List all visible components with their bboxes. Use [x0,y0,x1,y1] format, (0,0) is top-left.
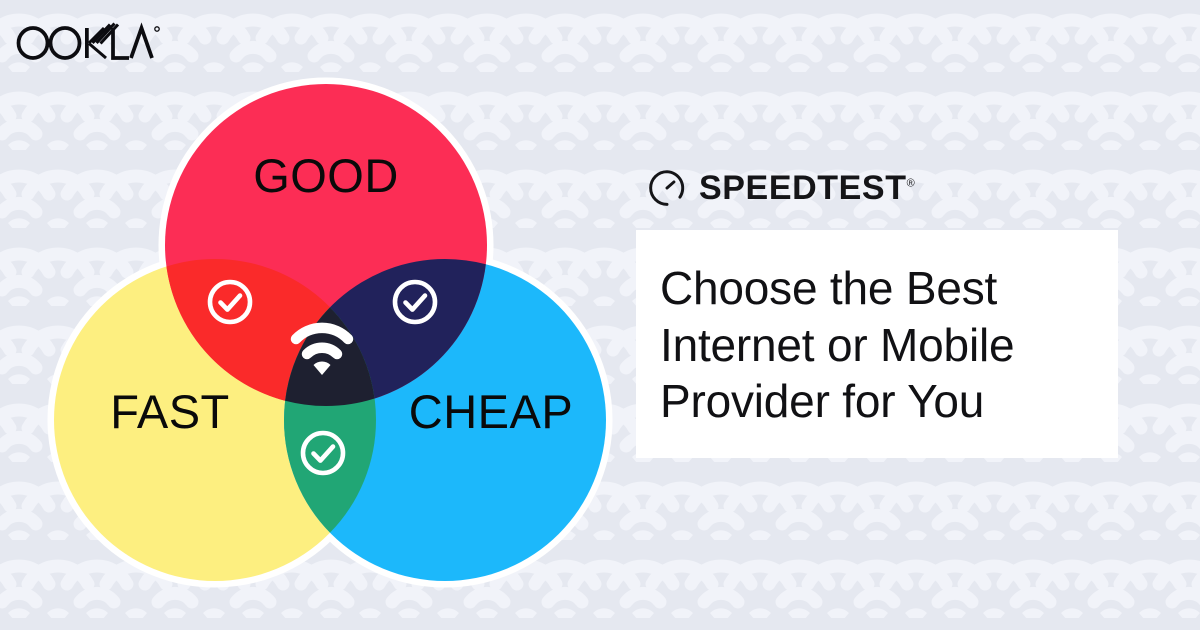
speedtest-wordmark: SPEEDTEST® [699,171,915,205]
venn-diagram: GOOD FAST CHEAP [45,60,615,580]
speedometer-icon [648,169,686,207]
venn-label-cheap: CHEAP [409,385,573,438]
headline-card: Choose the Best Internet or Mobile Provi… [636,230,1118,458]
registered-trademark-symbol: ® [907,178,915,190]
venn-label-good: GOOD [253,149,399,202]
speedtest-logo: SPEEDTEST® [648,168,1126,208]
headline-line-2: Internet or Mobile [660,317,1094,374]
ookla-logo [15,20,160,62]
page-title: Choose the Best Internet or Mobile Provi… [660,260,1094,430]
speedtest-wordmark-text: SPEEDTEST [699,169,907,207]
headline-line-3: Provider for You [660,373,1094,430]
venn-label-fast: FAST [110,385,230,438]
headline-line-1: Choose the Best [660,260,1094,317]
right-content-column: SPEEDTEST® Choose the Best Internet or M… [636,168,1126,458]
